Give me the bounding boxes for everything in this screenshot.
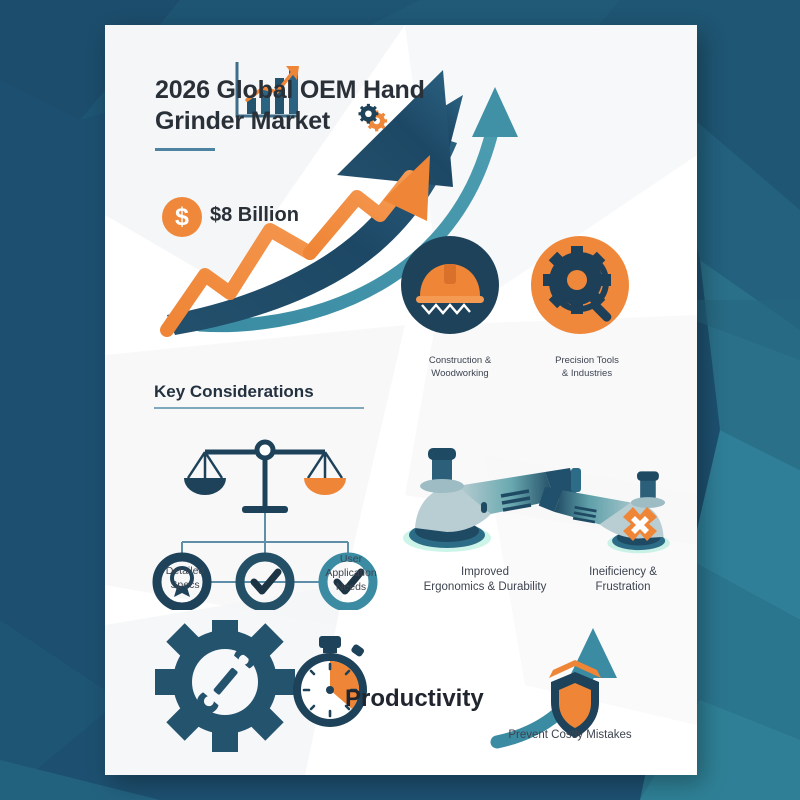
title-underline: [155, 148, 215, 151]
grinder-illustrations: [395, 440, 680, 570]
scale-pan-quality: [184, 478, 226, 495]
poster-card: 2026 Global OEM Hand Grinder Market $ $8…: [105, 25, 697, 775]
productivity-label: Productivity: [345, 685, 484, 713]
page-title: 2026 Global OEM Hand Grinder Market: [155, 75, 515, 136]
precision-circle: [531, 236, 629, 334]
market-value-label: $8 Billion: [210, 204, 299, 227]
orange-zigzag-arrow-icon: [167, 155, 430, 330]
shield-caption: Prevent Costly Mistakes: [475, 728, 665, 743]
section-underline: [154, 407, 364, 409]
dollar-badge-icon: $: [162, 197, 202, 237]
construction-circle: [401, 236, 499, 334]
section-heading: Key Considerations: [154, 382, 434, 402]
grinder-caption-good: Improved Ergonomics & Durability: [405, 565, 565, 595]
poster-canvas: 2026 Global OEM Hand Grinder Market $ $8…: [0, 0, 800, 800]
segment-icons: [395, 230, 635, 340]
segment-caption-precision: Precision Tools & Industries: [525, 355, 649, 380]
scale-pan-cost: [304, 478, 346, 495]
segment-caption-construction: Construction & Woodworking: [398, 355, 522, 380]
dollar-symbol: $: [175, 203, 189, 232]
stopwatch-icon: [293, 636, 367, 727]
gear-wrench-icon: [155, 620, 295, 752]
scale-pivot: [257, 442, 273, 458]
grinder-caption-bad: Ineificiency & Frustration: [563, 565, 683, 595]
consideration-label-user-needs: User Application Needs: [303, 553, 399, 595]
consideration-label-detailed-specs: Detailed Specs: [140, 565, 230, 593]
